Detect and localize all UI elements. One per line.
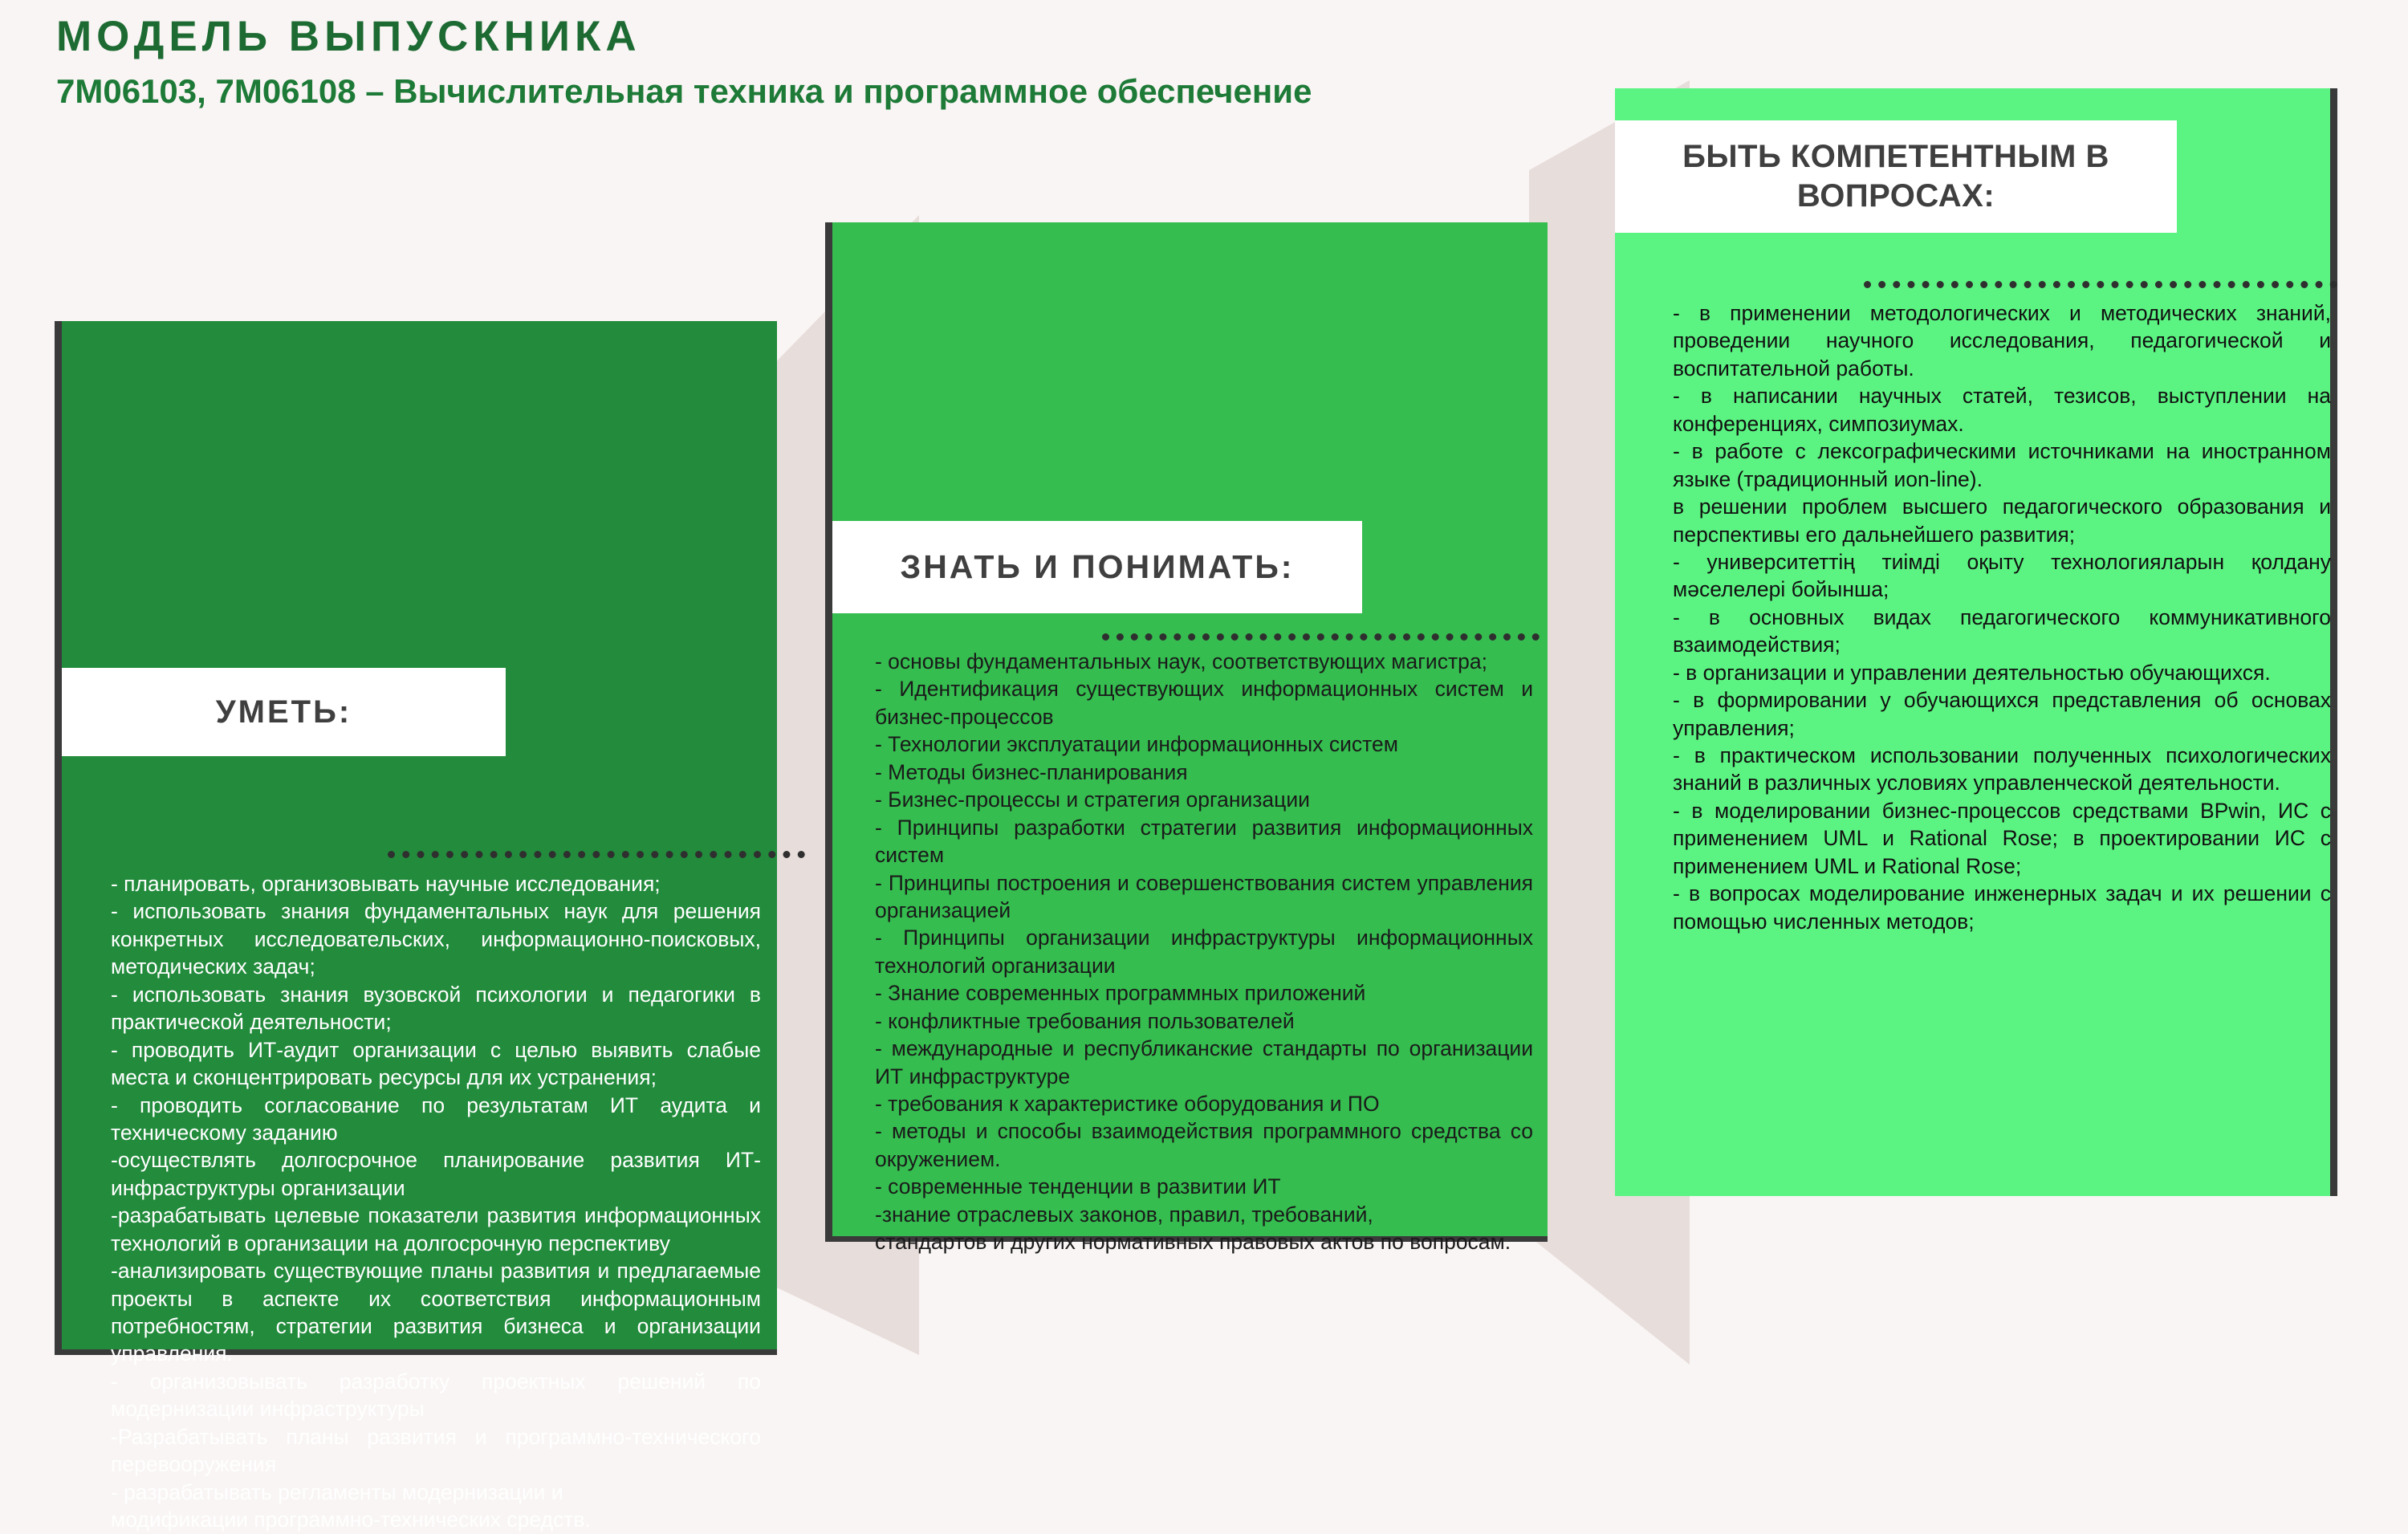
panel-byt-dotted-rule [1864, 281, 2337, 288]
list-item: - в практическом использовании полученны… [1673, 742, 2331, 797]
page-subtitle: 7M06103, 7M06108 – Вычислительная техник… [56, 71, 1525, 113]
title-block: МОДЕЛЬ ВЫПУСКНИКА 7M06103, 7M06108 – Выч… [56, 14, 1581, 112]
panel-byt: БЫТЬ КОМПЕТЕНТНЫМ В ВОПРОСАХ: - в примен… [1615, 88, 2337, 1196]
list-item: - использовать знания фундаментальных на… [111, 897, 761, 980]
list-item: -осуществлять долгосрочное планирование … [111, 1146, 761, 1202]
list-item: -знание отраслевых законов, правил, треб… [875, 1201, 1533, 1228]
list-item: - Бизнес-процессы и стратегия организаци… [875, 786, 1533, 813]
page-title: МОДЕЛЬ ВЫПУСКНИКА [56, 14, 1581, 59]
list-item: - требования к характеристике оборудован… [875, 1090, 1533, 1117]
list-item: - Идентификация существующих информацион… [875, 675, 1533, 730]
list-item: - в моделировании бизнес-процессов средс… [1673, 797, 2331, 880]
panel-znat-dotted-rule [1102, 633, 1540, 641]
list-item: - Принципы построения и совершенствовани… [875, 869, 1533, 925]
list-item: - проводить ИТ-аудит организации с целью… [111, 1036, 761, 1092]
list-item: - планировать, организовывать научные ис… [111, 870, 761, 897]
panel-umet-dotted-rule [388, 851, 805, 858]
list-item: - в организации и управлении деятельност… [1673, 659, 2331, 686]
list-item: - проводить согласование по результатам … [111, 1092, 761, 1147]
list-item: - Принципы разработки стратегии развития… [875, 814, 1533, 869]
list-item: - в написании научных статей, тезисов, в… [1673, 382, 2331, 437]
list-item: - современные тенденции в развитии ИТ [875, 1173, 1533, 1200]
panel-byt-content: - в применении методологических и методи… [1673, 299, 2331, 935]
list-item: модификации программно-технических средс… [111, 1506, 761, 1533]
panel-umet-header-label: УМЕТЬ: [216, 693, 352, 732]
list-item: стандартов и других нормативных правовых… [875, 1228, 1533, 1255]
list-item: - конфликтные требования пользователей [875, 1007, 1533, 1035]
panel-byt-header: БЫТЬ КОМПЕТЕНТНЫМ В ВОПРОСАХ: [1615, 120, 2177, 233]
list-item: -Разрабатывать планы развития и программ… [111, 1423, 761, 1479]
list-item: - разрабатывать регламенты модернизации … [111, 1479, 761, 1506]
panel-znat: ЗНАТЬ И ПОНИМАТЬ: - основы фундаментальн… [825, 222, 1548, 1242]
list-item: -разрабатывать целевые показатели развит… [111, 1202, 761, 1257]
list-item: - международные и республиканские станда… [875, 1035, 1533, 1090]
list-item: - в применении методологических и методи… [1673, 299, 2331, 382]
list-item: -анализировать существующие планы развит… [111, 1257, 761, 1368]
panel-znat-content: - основы фундаментальных наук, соответст… [875, 648, 1533, 1256]
list-item: - организовывать разработку проектных ре… [111, 1368, 761, 1423]
list-item: - основы фундаментальных наук, соответст… [875, 648, 1533, 675]
panel-umet: УМЕТЬ: - планировать, организовывать нау… [55, 321, 777, 1355]
list-item: - в вопросах моделирование инженерных за… [1673, 880, 2331, 935]
list-item: - университеттің тиімді оқыту технология… [1673, 548, 2331, 604]
list-item: - в формировании у обучающихся представл… [1673, 686, 2331, 742]
panel-umet-header: УМЕТЬ: [62, 668, 506, 756]
list-item: - Принципы организации инфраструктуры ин… [875, 924, 1533, 979]
list-item: - в основных видах педагогического комму… [1673, 604, 2331, 659]
list-item: - Знание современных программных приложе… [875, 979, 1533, 1007]
panel-umet-content: - планировать, организовывать научные ис… [111, 870, 761, 1534]
panel-znat-header: ЗНАТЬ И ПОНИМАТЬ: [832, 521, 1362, 613]
list-item: в решении проблем высшего педагогическог… [1673, 493, 2331, 548]
panel-byt-header-label: БЫТЬ КОМПЕТЕНТНЫМ В ВОПРОСАХ: [1615, 137, 2177, 216]
list-item: - методы и способы взаимодействия програ… [875, 1117, 1533, 1173]
list-item: - в работе с лексографическими источника… [1673, 437, 2331, 493]
list-item: - использовать знания вузовской психолог… [111, 981, 761, 1036]
list-item: - Технологии эксплуатации информационных… [875, 730, 1533, 758]
panel-znat-header-label: ЗНАТЬ И ПОНИМАТЬ: [901, 547, 1295, 587]
list-item: - Методы бизнес-планирования [875, 759, 1533, 786]
